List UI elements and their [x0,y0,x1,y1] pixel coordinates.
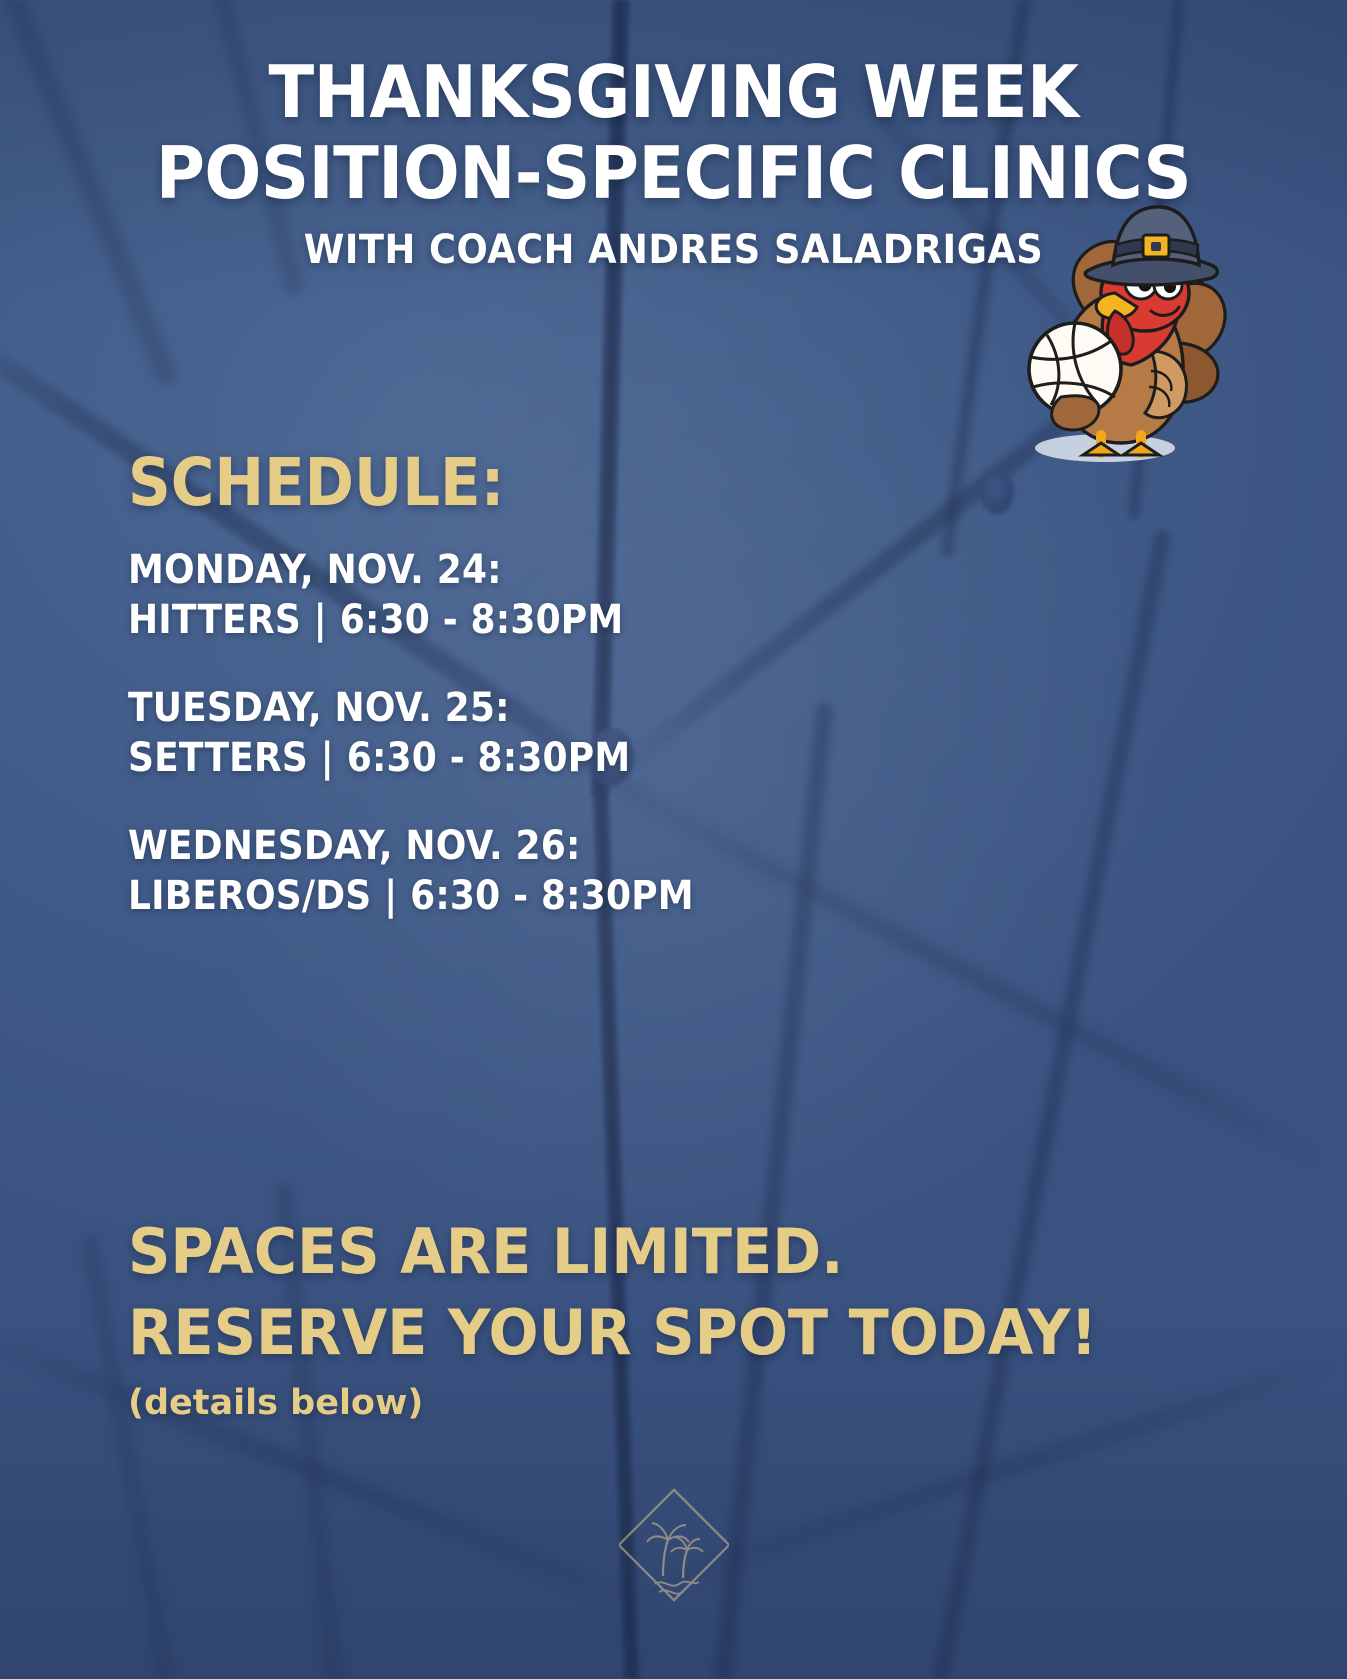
schedule-heading: SCHEDULE: [128,448,1171,517]
schedule-day: MONDAY, NOV. 24: [128,545,1171,595]
schedule-detail: LIBEROS/DS | 6:30 - 8:30PM [128,871,1171,921]
schedule-day: WEDNESDAY, NOV. 26: [128,821,1171,871]
cta-line-2: RESERVE YOUR SPOT TODAY! [128,1293,1248,1374]
title-line-1: THANKSGIVING WEEK [84,52,1262,133]
details-note: (details below) [128,1383,423,1423]
schedule-item: TUESDAY, NOV. 25: SETTERS | 6:30 - 8:30P… [128,683,1287,783]
palm-tree-diamond-logo-icon [619,1478,729,1610]
call-to-action: SPACES ARE LIMITED. RESERVE YOUR SPOT TO… [128,1212,1307,1373]
turkey-with-volleyball-icon [965,165,1235,465]
schedule-section: SCHEDULE: MONDAY, NOV. 24: HITTERS | 6:3… [128,448,1287,921]
schedule-day: TUESDAY, NOV. 25: [128,683,1171,733]
cta-line-1: SPACES ARE LIMITED. [128,1212,1248,1293]
schedule-detail: HITTERS | 6:30 - 8:30PM [128,595,1171,645]
schedule-item: MONDAY, NOV. 24: HITTERS | 6:30 - 8:30PM [128,545,1287,645]
schedule-detail: SETTERS | 6:30 - 8:30PM [128,733,1171,783]
schedule-item: WEDNESDAY, NOV. 26: LIBEROS/DS | 6:30 - … [128,821,1287,921]
thanksgiving-clinic-poster: THANKSGIVING WEEK POSITION-SPECIFIC CLIN… [0,0,1347,1679]
